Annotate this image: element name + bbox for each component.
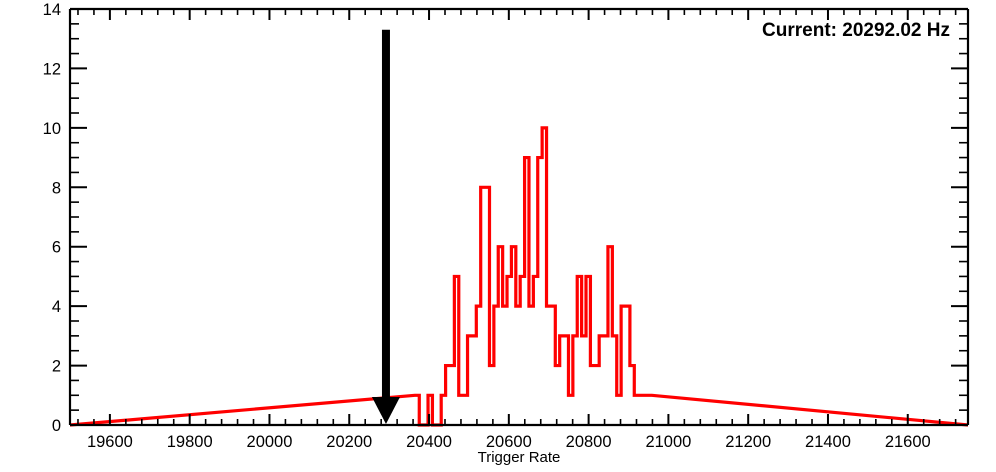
y-tick-label: 0 <box>52 417 61 435</box>
x-tick-label: 21400 <box>805 433 851 451</box>
x-axis-title: Trigger Rate <box>478 449 561 466</box>
y-tick-label: 8 <box>52 179 61 197</box>
y-tick-label: 6 <box>52 239 61 257</box>
current-rate-annotation: Current: 20292.02 Hz <box>762 20 950 41</box>
y-tick-label: 4 <box>52 298 61 316</box>
x-tick-label: 21600 <box>885 433 931 451</box>
x-tick-label: 20000 <box>247 433 293 451</box>
plot-frame <box>70 9 968 425</box>
x-tick-label: 21000 <box>645 433 691 451</box>
x-tick-label: 19800 <box>167 433 213 451</box>
x-tick-label: 21200 <box>725 433 771 451</box>
x-tick-label: 20200 <box>326 433 372 451</box>
y-tick-label: 14 <box>43 1 61 19</box>
x-tick-label: 20800 <box>566 433 612 451</box>
y-tick-label: 2 <box>52 358 61 376</box>
x-tick-label: 19600 <box>87 433 133 451</box>
trigger-rate-histogram: 1960019800200002020020400206002080021000… <box>0 0 996 472</box>
plot-background <box>70 9 968 425</box>
y-tick-label: 10 <box>43 120 61 138</box>
x-tick-label: 20400 <box>406 433 452 451</box>
y-tick-label: 12 <box>43 60 61 78</box>
chart-root: 1960019800200002020020400206002080021000… <box>0 0 996 472</box>
